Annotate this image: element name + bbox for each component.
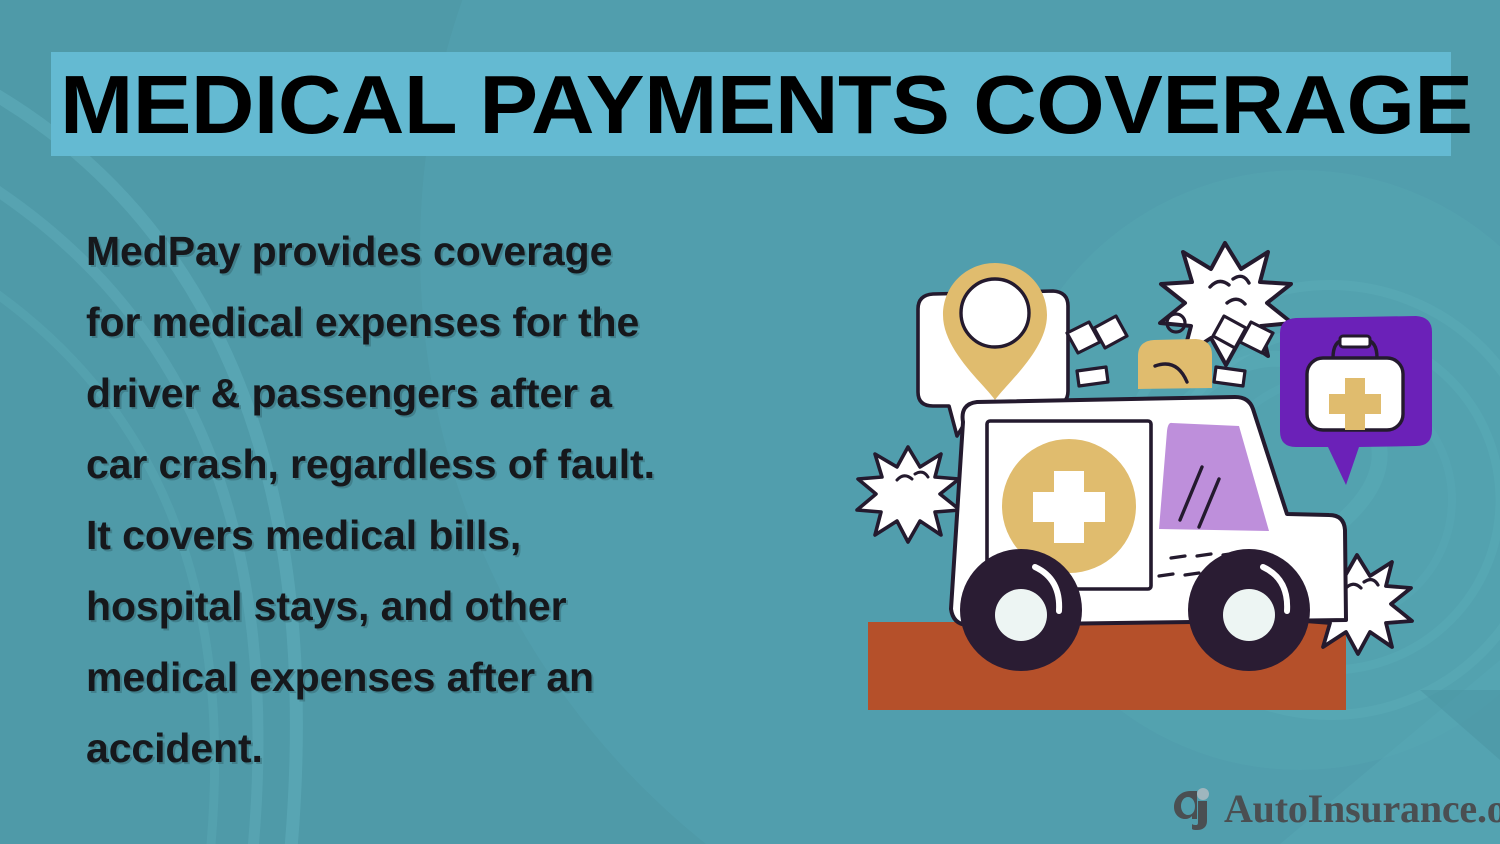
body-line: for medical expenses for the [86, 287, 826, 358]
logo-text: AutoInsurance.org [1224, 789, 1500, 829]
body-line: car crash, regardless of fault. [86, 429, 826, 500]
ambulance-illustration [855, 225, 1435, 725]
body-copy: MedPay provides coverage for medical exp… [86, 216, 826, 784]
body-line: It covers medical bills, [86, 500, 826, 571]
siren-ray-right-3 [1214, 367, 1245, 386]
body-line: hospital stays, and other [86, 571, 826, 642]
starburst-2 [857, 447, 960, 542]
body-line: medical expenses after an [86, 642, 826, 713]
body-line: accident. [86, 713, 826, 784]
first-aid-kit-latch [1340, 336, 1370, 347]
body-line: driver & passengers after a [86, 358, 826, 429]
infographic-poster: MEDICAL PAYMENTS COVERAGE MedPay provide… [0, 0, 1500, 844]
title-banner: MEDICAL PAYMENTS COVERAGE [51, 52, 1451, 156]
first-aid-kit-speech-bubble [1280, 316, 1432, 485]
siren-ray-left-3 [1077, 367, 1108, 386]
site-logo[interactable]: AutoInsurance.org [1172, 785, 1500, 833]
ambulance-wheel-front [1188, 549, 1310, 671]
ambulance-wheel-rear [960, 549, 1082, 671]
ai-monogram-icon [1172, 787, 1212, 831]
body-line: MedPay provides coverage [86, 216, 826, 287]
location-pin-inner-circle [961, 279, 1029, 347]
page-title: MEDICAL PAYMENTS COVERAGE [60, 63, 1473, 146]
